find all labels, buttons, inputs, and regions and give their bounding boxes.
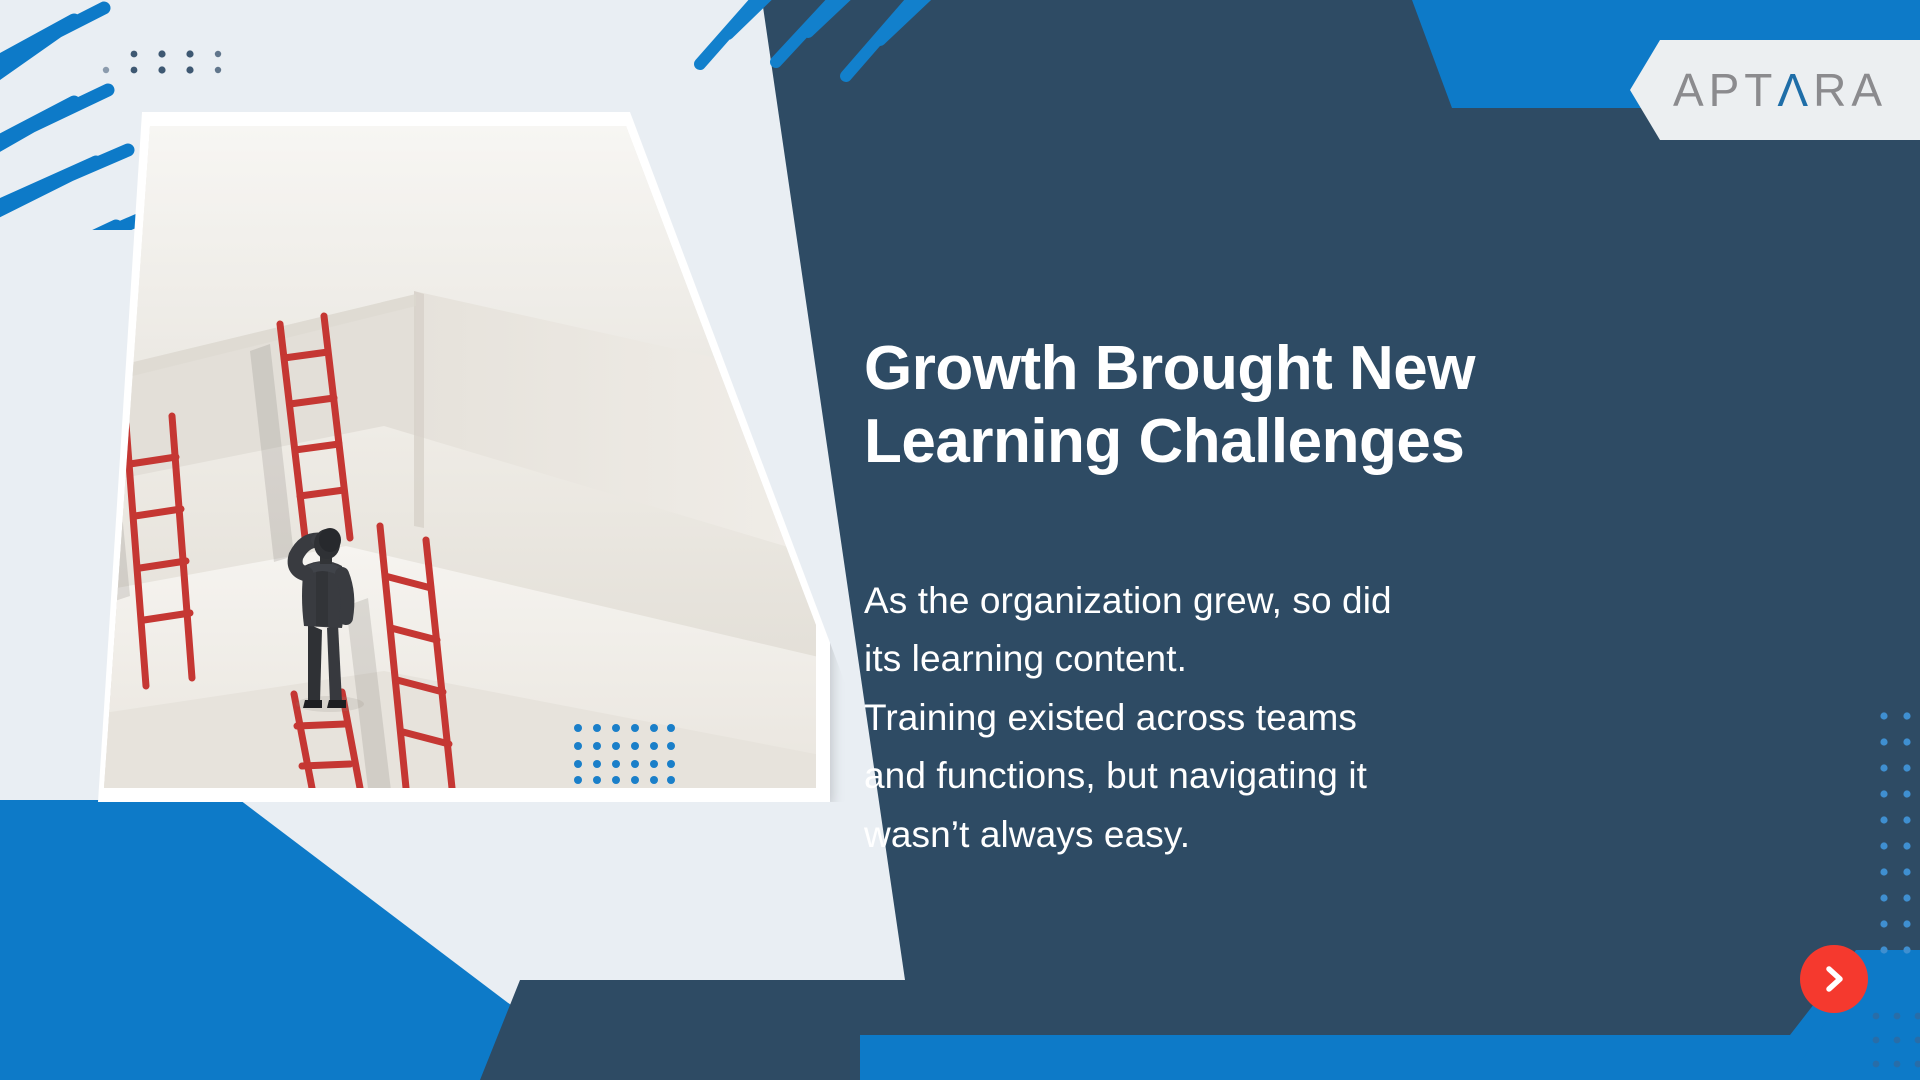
dot-grid-right-icon	[1878, 710, 1920, 960]
scribble-decoration-icon	[690, 0, 990, 96]
headline-line-2: Learning Challenges	[864, 407, 1464, 476]
logo-text-part-1: APT	[1673, 63, 1777, 117]
slide-headline: Growth Brought New Learning Challenges	[864, 332, 1664, 478]
dot-grid-photo-icon	[572, 722, 676, 784]
dot-grid-bottom-right-icon	[1870, 1010, 1920, 1080]
slide-root: APTΛRA Growth Brought New Learning Chall…	[0, 0, 1920, 1080]
body-line-5: wasn’t always easy.	[864, 806, 1584, 864]
chevron-right-icon	[1819, 964, 1849, 994]
body-line-4: and functions, but navigating it	[864, 747, 1584, 805]
dot-grid-top-left-icon	[100, 48, 240, 80]
aptara-logo-badge: APTΛRA	[1630, 40, 1920, 140]
headline-line-1: Growth Brought New	[864, 334, 1475, 403]
next-slide-button[interactable]	[1800, 945, 1868, 1013]
body-line-1: As the organization grew, so did	[864, 572, 1584, 630]
slide-body-copy: As the organization grew, so did its lea…	[864, 572, 1584, 864]
logo-accent-letter: Λ	[1777, 63, 1813, 117]
body-line-2: its learning content.	[864, 630, 1584, 688]
logo-text-part-2: RA	[1813, 63, 1887, 117]
aptara-logo-wordmark: APTΛRA	[1673, 63, 1887, 117]
body-line-3: Training existed across teams	[864, 689, 1584, 747]
